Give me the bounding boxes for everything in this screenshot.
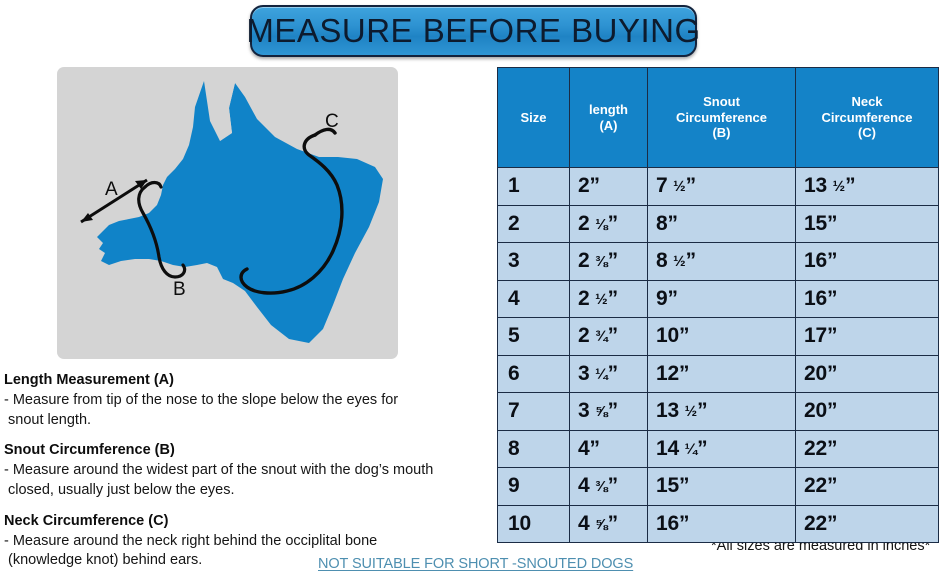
cell-neck: 20”: [796, 355, 939, 393]
cell-length: 2 ⅜”: [570, 243, 648, 281]
table-row: 52 ¾”10”17”: [498, 318, 939, 356]
cell-length: 3 ¼”: [570, 355, 648, 393]
cell-size: 9: [498, 468, 570, 506]
instruction-title-length: Length Measurement (A): [4, 371, 484, 390]
page-title: MEASURE BEFORE BUYING: [246, 12, 700, 50]
measurement-instructions: Length Measurement (A) - Measure from ti…: [4, 371, 484, 582]
cell-length: 2”: [570, 168, 648, 206]
cell-neck: 22”: [796, 468, 939, 506]
instruction-block-snout: Snout Circumference (B) - Measure around…: [4, 441, 484, 500]
cell-neck: 16”: [796, 280, 939, 318]
cell-length: 2 ⅛”: [570, 205, 648, 243]
cell-snout: 7 ½”: [648, 168, 796, 206]
cell-snout: 14 ¼”: [648, 430, 796, 468]
table-row: 84”14 ¼”22”: [498, 430, 939, 468]
cell-size: 1: [498, 168, 570, 206]
cell-length: 4 ⅝”: [570, 505, 648, 543]
size-chart-body: 12”7 ½”13 ½”22 ⅛”8”15”32 ⅜”8 ½”16”42 ½”9…: [498, 168, 939, 543]
column-header-length: length (A): [570, 68, 648, 168]
cell-length: 4 ⅜”: [570, 468, 648, 506]
table-row: 22 ⅛”8”15”: [498, 205, 939, 243]
cell-size: 2: [498, 205, 570, 243]
title-badge: MEASURE BEFORE BUYING: [250, 5, 697, 57]
not-suitable-note: NOT SUITABLE FOR SHORT -SNOUTED DOGS: [318, 556, 633, 572]
cell-size: 5: [498, 318, 570, 356]
cell-size: 6: [498, 355, 570, 393]
cell-snout: 12”: [648, 355, 796, 393]
label-c: C: [325, 111, 339, 132]
cell-snout: 15”: [648, 468, 796, 506]
cell-size: 7: [498, 393, 570, 431]
instruction-body-snout: - Measure around the widest part of the …: [4, 461, 484, 500]
cell-snout: 9”: [648, 280, 796, 318]
dog-measurement-illustration: A B C: [57, 67, 398, 359]
column-header-snout: Snout Circumference (B): [648, 68, 796, 168]
column-header-size: Size: [498, 68, 570, 168]
cell-neck: 22”: [796, 430, 939, 468]
label-b: B: [173, 279, 186, 300]
label-a: A: [105, 179, 118, 200]
table-header-row: Size length (A) Snout Circumference (B) …: [498, 68, 939, 168]
cell-length: 3 ⅝”: [570, 393, 648, 431]
cell-size: 8: [498, 430, 570, 468]
table-row: 73 ⅝”13 ½”20”: [498, 393, 939, 431]
cell-length: 2 ½”: [570, 280, 648, 318]
instruction-block-length: Length Measurement (A) - Measure from ti…: [4, 371, 484, 430]
cell-neck: 20”: [796, 393, 939, 431]
cell-size: 3: [498, 243, 570, 281]
size-chart-table: Size length (A) Snout Circumference (B) …: [497, 67, 939, 543]
cell-snout: 8”: [648, 205, 796, 243]
dog-silhouette: [97, 81, 383, 343]
cell-neck: 22”: [796, 505, 939, 543]
table-row: 32 ⅜”8 ½”16”: [498, 243, 939, 281]
table-row: 42 ½”9”16”: [498, 280, 939, 318]
cell-neck: 13 ½”: [796, 168, 939, 206]
cell-snout: 8 ½”: [648, 243, 796, 281]
instruction-title-snout: Snout Circumference (B): [4, 441, 484, 460]
cell-snout: 10”: [648, 318, 796, 356]
table-row: 94 ⅜”15”22”: [498, 468, 939, 506]
instruction-body-length: - Measure from tip of the nose to the sl…: [4, 391, 484, 430]
cell-snout: 16”: [648, 505, 796, 543]
cell-neck: 16”: [796, 243, 939, 281]
cell-size: 4: [498, 280, 570, 318]
cell-neck: 15”: [796, 205, 939, 243]
column-header-neck: Neck Circumference (C): [796, 68, 939, 168]
cell-size: 10: [498, 505, 570, 543]
table-row: 104 ⅝”16”22”: [498, 505, 939, 543]
table-row: 63 ¼”12”20”: [498, 355, 939, 393]
table-row: 12”7 ½”13 ½”: [498, 168, 939, 206]
snout-loop-b-tail: [145, 183, 161, 188]
cell-length: 4”: [570, 430, 648, 468]
cell-length: 2 ¾”: [570, 318, 648, 356]
cell-snout: 13 ½”: [648, 393, 796, 431]
instruction-title-neck: Neck Circumference (C): [4, 512, 484, 531]
cell-neck: 17”: [796, 318, 939, 356]
